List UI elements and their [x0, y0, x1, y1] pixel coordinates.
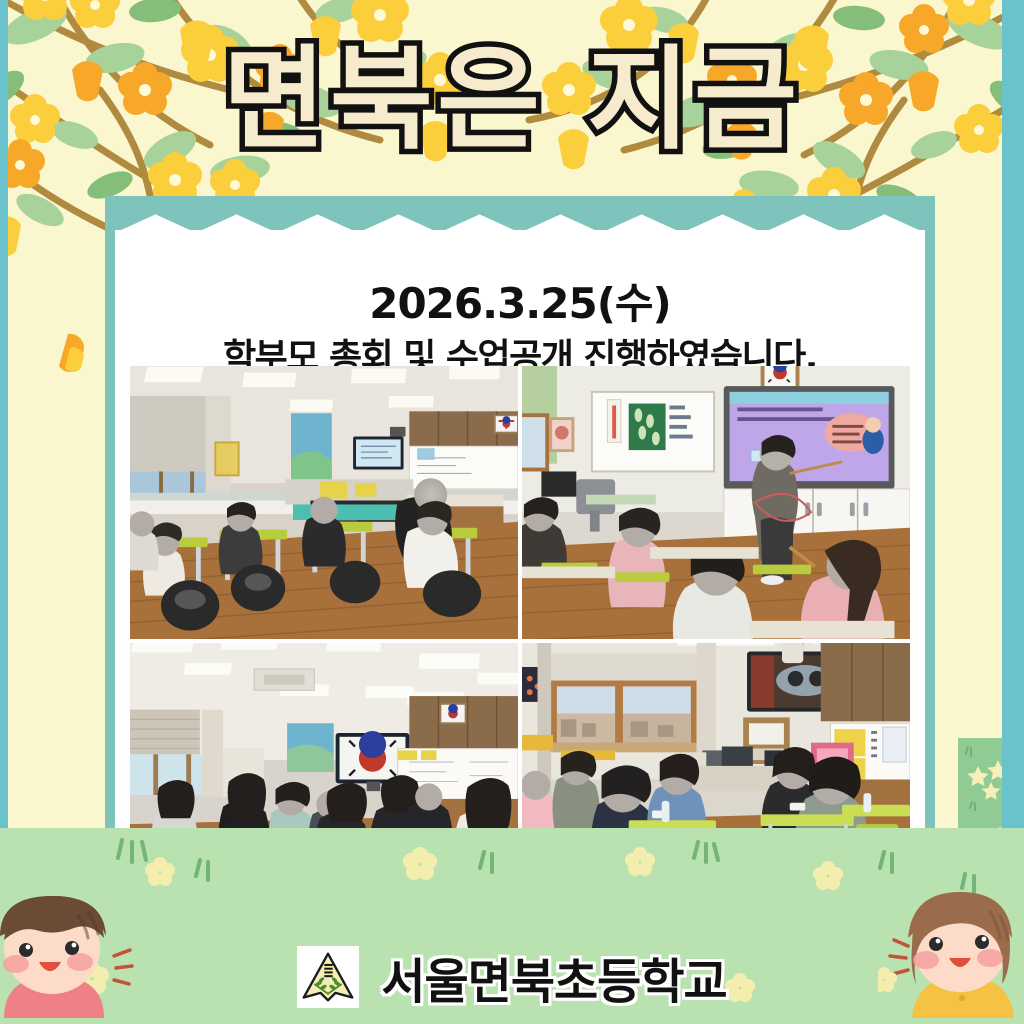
poster-canvas: 면북은 지금 2026.3.25(수) 학부모 총회 및 수업공개 진행하였습니… — [0, 0, 1024, 1024]
card-inner: 2026.3.25(수) 학부모 총회 및 수업공개 진행하였습니다. — [115, 230, 925, 926]
photo-top-right[interactable] — [522, 366, 910, 639]
event-date: 2026.3.25(수) — [125, 278, 915, 331]
school-footer: 서울면북초등학교 — [0, 930, 1024, 1024]
flower-accent-left — [46, 328, 90, 372]
content-card: 2026.3.25(수) 학부모 총회 및 수업공개 진행하였습니다. — [105, 196, 935, 936]
page-title: 면북은 지금 — [0, 44, 1024, 156]
school-name: 서울면북초등학교 — [381, 942, 726, 1012]
school-emblem — [297, 946, 359, 1008]
photo-top-left[interactable] — [130, 366, 518, 639]
